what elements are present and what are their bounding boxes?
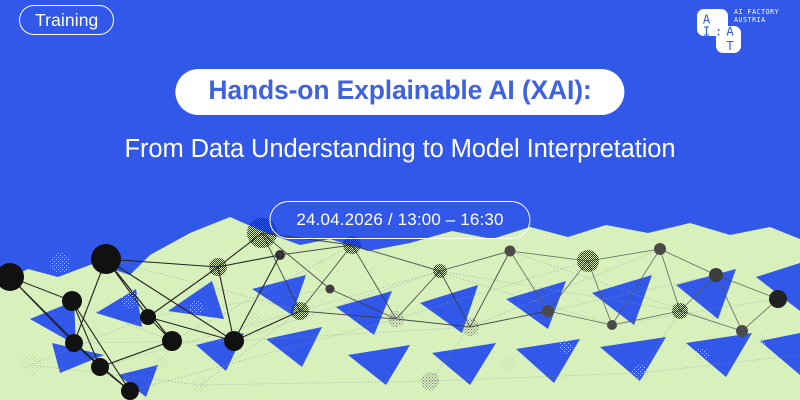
event-subtitle: From Data Understanding to Model Interpr… [0, 135, 800, 164]
logo-wordmark-line2: AUSTRIA [734, 16, 779, 24]
event-title-pill: Hands-on Explainable AI (XAI): [175, 69, 624, 115]
page-title: Hands-on Explainable AI (XAI): [208, 76, 591, 106]
logo-wordmark: AI FACTORY AUSTRIA [734, 8, 779, 25]
svg-text:T: T [726, 38, 734, 53]
training-badge: Training [19, 5, 114, 35]
training-badge-label: Training [35, 10, 98, 31]
event-datetime-label: 24.04.2026 / 13:00 – 16:30 [296, 210, 503, 230]
ai-factory-austria-logo: A I : A T AI FACTORY AUSTRIA [694, 6, 786, 58]
event-promo-card: Training A I : A T AI FACTORY AUSTRIA Ha… [0, 0, 800, 400]
svg-text:I: I [703, 24, 711, 39]
network-graph-svg [0, 215, 800, 400]
logo-wordmark-line1: AI FACTORY [734, 8, 779, 16]
network-graph-illustration [0, 215, 800, 400]
svg-text:A: A [726, 24, 734, 39]
event-datetime-pill: 24.04.2026 / 13:00 – 16:30 [269, 201, 530, 239]
svg-text::: : [715, 24, 723, 39]
